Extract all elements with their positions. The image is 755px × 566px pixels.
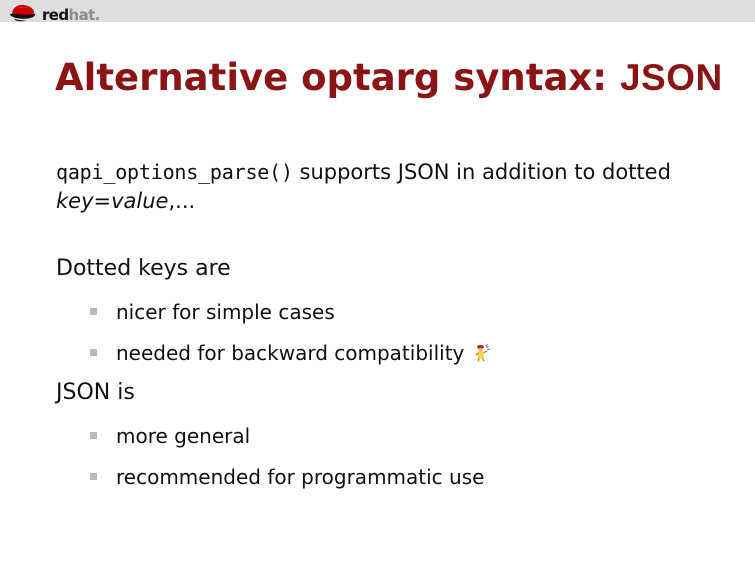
list-item-label: needed for backward compatibility: [116, 339, 464, 367]
redhat-logo-text: redhat: [42, 8, 99, 23]
section-heading-json-is: JSON is: [56, 378, 135, 408]
intro-text-tail: ,...: [168, 189, 195, 213]
party-figure-emoji-icon: [472, 343, 492, 363]
list-item: more general: [90, 422, 250, 450]
intro-paragraph: qapi_options_parse() supports JSON in ad…: [56, 158, 676, 216]
list-item-label: recommended for programmatic use: [116, 463, 484, 491]
header-band: [0, 0, 755, 22]
square-bullet-icon: [90, 432, 97, 439]
list-item: recommended for programmatic use: [90, 463, 484, 491]
square-bullet-icon: [90, 308, 97, 315]
section-heading-dotted-keys: Dotted keys are: [56, 254, 231, 284]
intro-italic-keyvalue: key=value: [56, 189, 168, 213]
logo-text-hat: hat: [69, 6, 95, 24]
square-bullet-icon: [90, 473, 97, 480]
logo-text-red: red: [42, 6, 69, 24]
list-item: needed for backward compatibility: [90, 339, 492, 367]
logo-registered-dot: [96, 17, 99, 20]
list-item-label: nicer for simple cases: [116, 298, 335, 326]
list-item-label: more general: [116, 422, 250, 450]
list-item: nicer for simple cases: [90, 298, 335, 326]
slide-title: Alternative optarg syntax: JSON: [55, 56, 723, 100]
redhat-shadowman-fedora-icon: [8, 2, 38, 26]
redhat-logo: redhat: [8, 0, 99, 28]
slide-title-accent: JSON: [620, 57, 723, 98]
slide-title-main: Alternative optarg syntax:: [55, 56, 607, 99]
intro-text-after-code: supports JSON in addition to dotted: [293, 160, 671, 184]
square-bullet-icon: [90, 349, 97, 356]
code-function-name: qapi_options_parse(): [56, 160, 293, 184]
